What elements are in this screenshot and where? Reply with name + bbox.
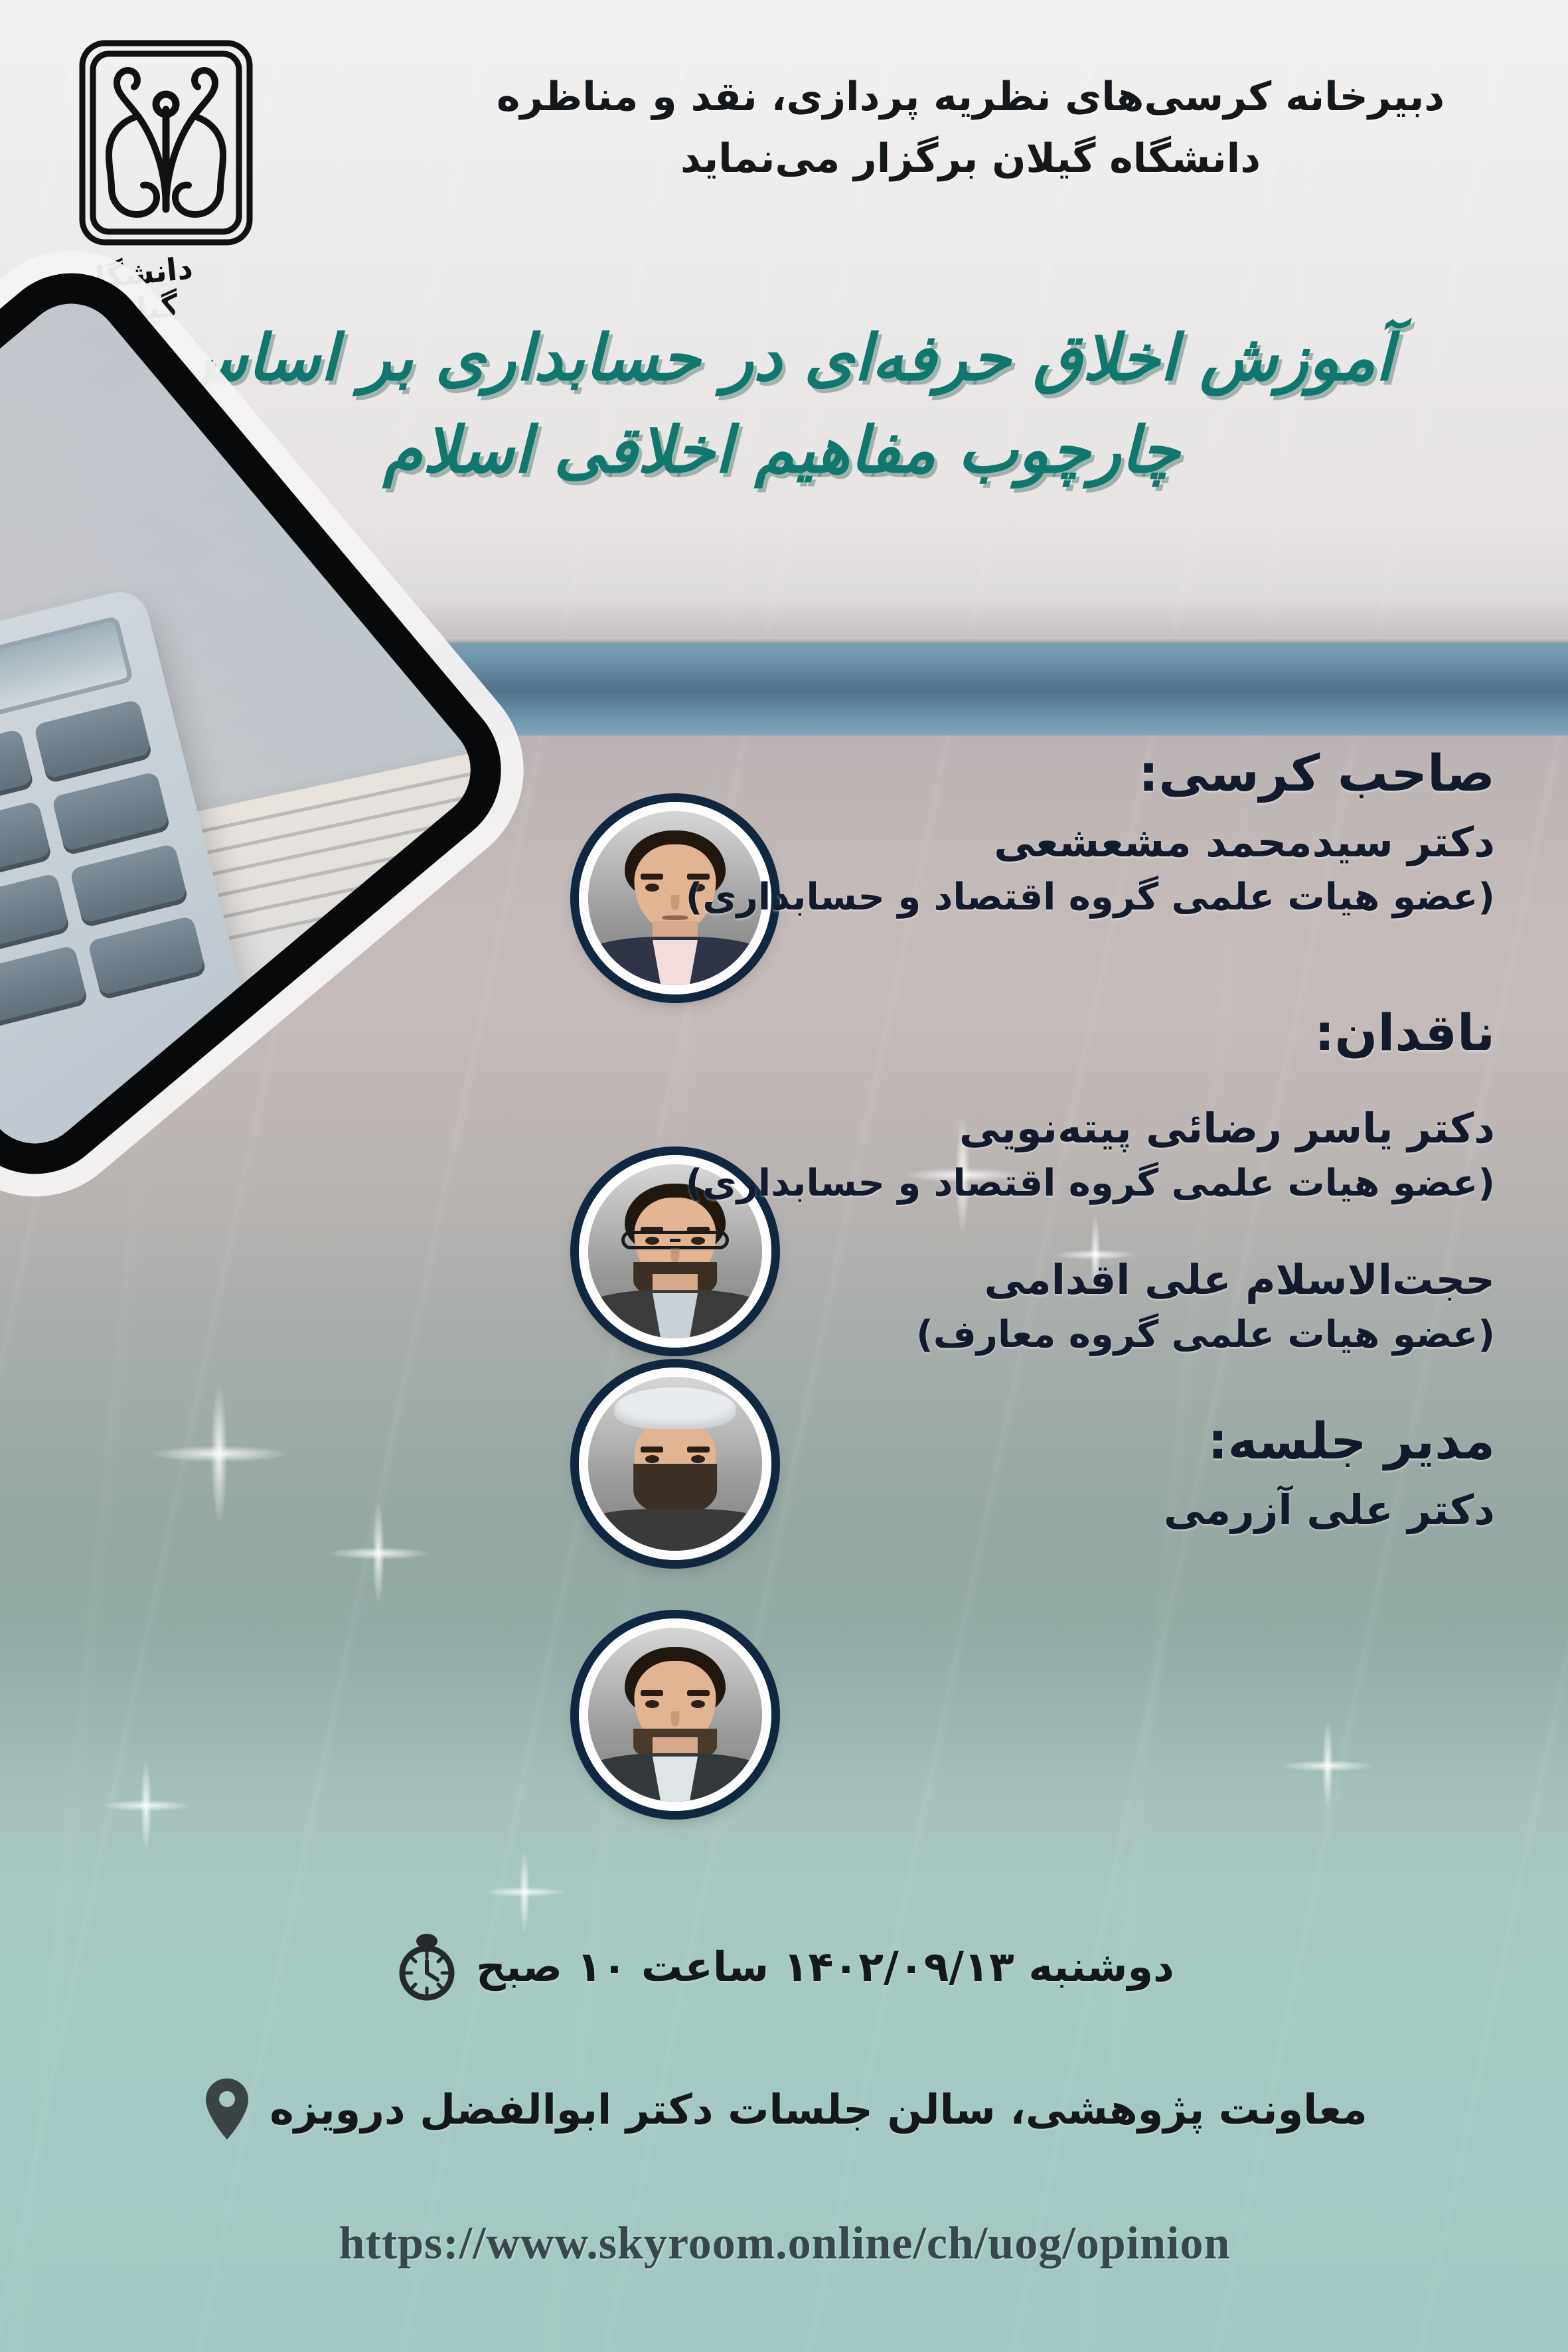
moderator-name: دکتر علی آزرمی xyxy=(685,1482,1495,1538)
event-location: معاونت پژوهشی، سالن جلسات دکتر ابوالفضل … xyxy=(270,2085,1368,2134)
event-datetime-row: دوشنبه ۱۴۰۲/۰۹/۱۳ ساعت ۱۰ صبح xyxy=(94,1932,1475,2001)
title-line-1: آموزش اخلاق حرفه‌ای در حسابداری بر اساس xyxy=(94,312,1468,404)
moderator-block: مدیر جلسه: دکتر علی آزرمی xyxy=(685,1411,1495,1538)
sparkle-decoration xyxy=(119,1354,319,1553)
sparkle-decoration xyxy=(305,1480,451,1626)
event-datetime: دوشنبه ۱۴۰۲/۰۹/۱۳ ساعت ۱۰ صبح xyxy=(476,1942,1174,1991)
chair-affiliation: (عضو هیات علمی گروه اقتصاد و حسابداری) xyxy=(685,872,1495,923)
event-url[interactable]: https://www.skyroom.online/ch/uog/opinio… xyxy=(94,2217,1475,2270)
calculator-keypad xyxy=(0,699,207,1118)
critic-1-name: دکتر یاسر رضائی پیته‌نویی xyxy=(685,1101,1495,1156)
header-line-1: دبیرخانه کرسی‌های نظریه پردازی، نقد و من… xyxy=(453,66,1488,128)
gilan-university-emblem-icon xyxy=(73,37,259,256)
avatar xyxy=(588,1628,762,1802)
critics-role-label: ناقدان: xyxy=(685,1003,1495,1062)
moderator-role-label: مدیر جلسه: xyxy=(685,1411,1495,1470)
critic-2-affiliation: (عضو هیات علمی گروه معارف) xyxy=(685,1309,1495,1361)
poster-title: آموزش اخلاق حرفه‌ای در حسابداری بر اساس … xyxy=(94,312,1468,497)
stopwatch-icon xyxy=(395,1932,459,2001)
critics-block: ناقدان: دکتر یاسر رضائی پیته‌نویی (عضو ه… xyxy=(685,1003,1495,1361)
chair-role-label: صاحب کرسی: xyxy=(685,744,1495,803)
event-location-row: معاونت پژوهشی، سالن جلسات دکتر ابوالفضل … xyxy=(94,2075,1475,2144)
critic-2-name: حجت‌الاسلام علی اقدامی xyxy=(685,1252,1495,1308)
portrait-moderator xyxy=(579,1618,771,1811)
map-pin-icon xyxy=(202,2075,252,2144)
chair-block: صاحب کرسی: دکتر سیدمحمد مشعشعی (عضو هیات… xyxy=(685,744,1495,923)
speakers-column: صاحب کرسی: دکتر سیدمحمد مشعشعی (عضو هیات… xyxy=(685,744,1495,1546)
sparkle-decoration xyxy=(80,1739,212,1872)
chair-name: دکتر سیدمحمد مشعشعی xyxy=(685,815,1495,870)
poster-header: دبیرخانه کرسی‌های نظریه پردازی، نقد و من… xyxy=(453,66,1488,190)
sparkle-decoration xyxy=(1261,1699,1394,1832)
header-line-2: دانشگاه گیلان برگزار می‌نماید xyxy=(453,128,1488,190)
event-poster: دانشگاه گیلان دبیرخانه کرسی‌های نظریه پر… xyxy=(0,0,1568,2352)
critic-1-affiliation: (عضو هیات علمی گروه اقتصاد و حسابداری) xyxy=(685,1158,1495,1210)
title-line-2: چارچوب مفاهیم اخلاقی اسلام xyxy=(94,404,1468,497)
